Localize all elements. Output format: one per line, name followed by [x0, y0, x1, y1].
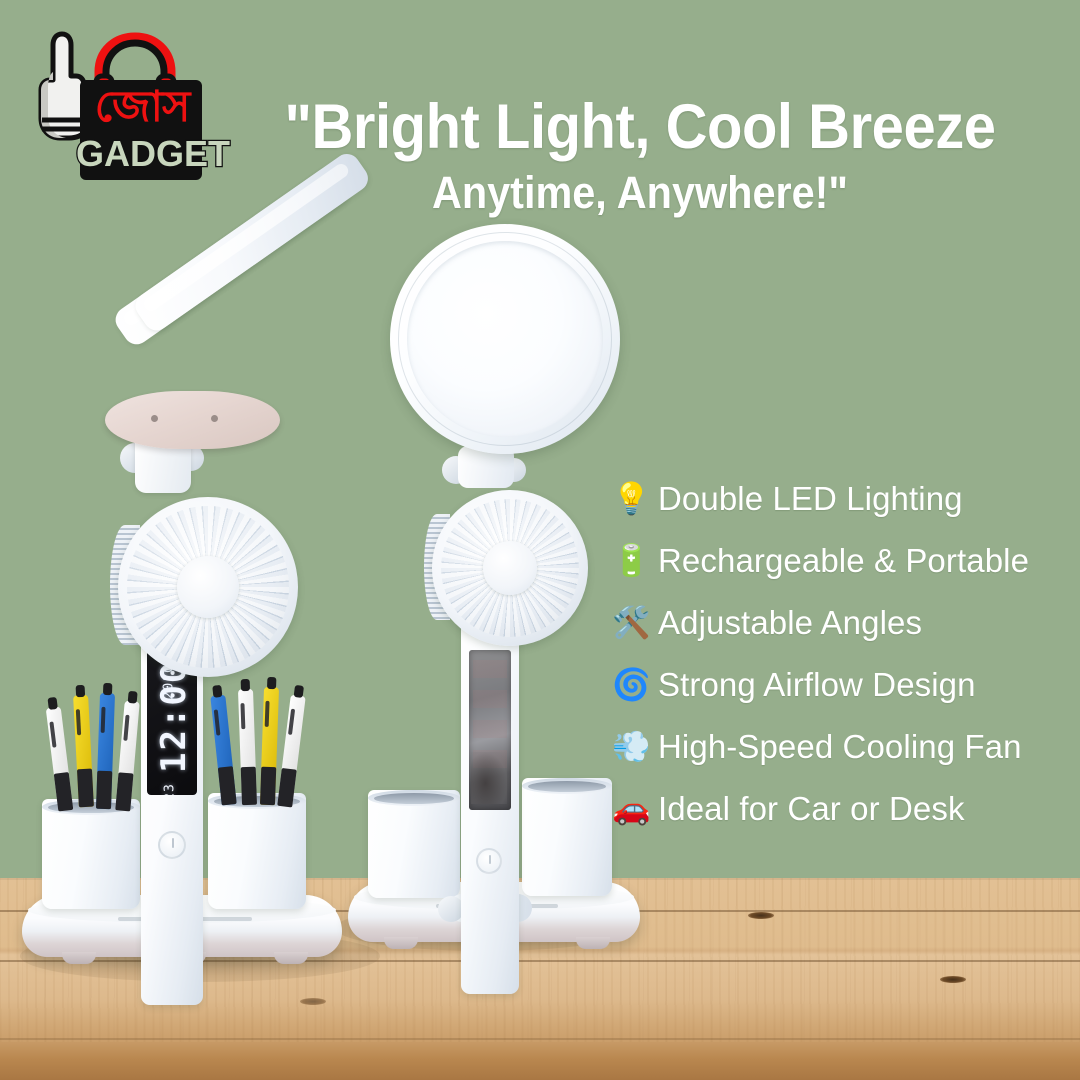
pen-grip [218, 766, 237, 805]
display-date: 3-23 [163, 747, 178, 796]
pen [238, 689, 257, 805]
feature-label: High-Speed Cooling Fan [658, 716, 1022, 778]
plank-seam [0, 1038, 1080, 1040]
pen-tip [267, 677, 276, 689]
feature-item: 🔋 Rechargeable & Portable [612, 530, 1080, 592]
feature-item: 💨 High-Speed Cooling Fan [612, 716, 1080, 778]
display-reflection [471, 752, 507, 804]
pen-tip [76, 685, 86, 697]
pen-clip [288, 709, 295, 735]
battery-icon: 🔋 [612, 530, 658, 592]
left-lamp-pivot-plate [105, 391, 280, 449]
pen-clip [240, 703, 245, 729]
pen [210, 695, 236, 806]
holder-opening [528, 781, 606, 792]
pen-clip [101, 707, 106, 733]
pivot-screw [151, 415, 158, 422]
fan-hub [483, 541, 537, 595]
wood-knot [940, 976, 966, 983]
brand-logo[interactable]: জোস GADGET [30, 22, 205, 182]
pen-clip [214, 709, 221, 735]
fan-hub [177, 556, 239, 618]
headline-line-1: "Bright Light, Cool Breeze [249, 92, 1031, 162]
right-lamp-product [330, 218, 660, 978]
right-lamp-fan [432, 490, 588, 646]
feature-item: 💡 Double LED Lighting [612, 468, 1080, 530]
feature-list: 💡 Double LED Lighting 🔋 Rechargeable & P… [612, 468, 1080, 840]
pen-tip [241, 679, 250, 691]
car-icon: 🚗 [612, 778, 658, 840]
wood-knot [748, 912, 774, 919]
table-front-edge [0, 1042, 1080, 1080]
dash-wind-icon: 💨 [612, 716, 658, 778]
pen-tip [128, 691, 138, 704]
pen-grip [77, 769, 94, 808]
right-lamp-power-button[interactable] [476, 848, 502, 874]
feature-label: Strong Airflow Design [658, 654, 976, 716]
right-lamp-left-holder [368, 790, 460, 898]
pen-tip [103, 683, 112, 695]
pen-clip [49, 721, 56, 747]
logo-bengali-text: জোস [82, 79, 202, 135]
pivot-screw [211, 415, 218, 422]
pen-tip [47, 697, 57, 710]
right-pen-holder [208, 793, 306, 909]
wood-knot [300, 998, 326, 1005]
pen-clip [123, 715, 129, 741]
feature-label: Rechargeable & Portable [658, 530, 1029, 592]
left-pen-holder [42, 799, 140, 909]
pen-tip [212, 685, 222, 698]
logo-brand-text: GADGET [76, 132, 206, 176]
feature-label: Adjustable Angles [658, 592, 922, 654]
feature-label: Double LED Lighting [658, 468, 963, 530]
right-lamp-led-disc [379, 213, 632, 466]
right-lamp-right-holder [522, 778, 612, 896]
pen-grip [96, 771, 112, 810]
base-foot [62, 952, 96, 964]
pen-grip [241, 767, 257, 806]
pen [46, 706, 74, 811]
pen-clip [265, 701, 270, 727]
pen [96, 693, 115, 809]
pen [260, 687, 279, 805]
pen-tip [294, 685, 304, 698]
hammer-wrench-icon: 🛠️ [612, 592, 658, 654]
pen-grip [54, 772, 74, 812]
pen-clip [76, 709, 81, 735]
feature-item: 🌀 Strong Airflow Design [612, 654, 1080, 716]
pen [73, 695, 94, 808]
left-lamp-power-button[interactable] [158, 831, 186, 859]
pen [115, 701, 140, 812]
left-lamp-fan [118, 497, 298, 677]
right-lamp-display [469, 650, 511, 810]
feature-item: 🛠️ Adjustable Angles [612, 592, 1080, 654]
base-foot [384, 937, 418, 949]
cyclone-icon: 🌀 [612, 654, 658, 716]
pen [277, 695, 306, 808]
pen-grip [260, 767, 276, 806]
feature-label: Ideal for Car or Desk [658, 778, 965, 840]
holder-opening [374, 793, 454, 804]
advertisement-canvas: জোস GADGET "Bright Light, Cool Breeze An… [0, 0, 1080, 1080]
feature-item: 🚗 Ideal for Car or Desk [612, 778, 1080, 840]
base-foot [576, 937, 610, 949]
base-foot [274, 952, 308, 964]
light-bulb-icon: 💡 [612, 468, 658, 530]
